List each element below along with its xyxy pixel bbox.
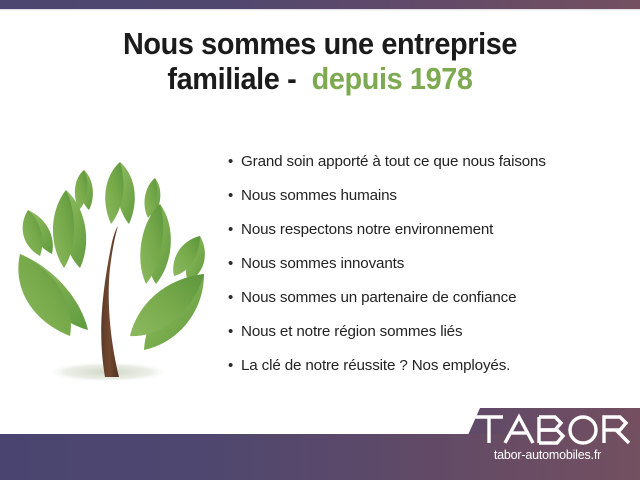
- bullet-icon: •: [228, 252, 241, 275]
- headline-line-1: Nous sommes une entreprise: [22, 26, 617, 61]
- band-main: [0, 434, 640, 480]
- bullet-icon: •: [228, 150, 241, 173]
- list-item-label: Nous respectons notre environnement: [241, 218, 628, 241]
- top-accent-bar: [0, 0, 640, 9]
- headline-line-2: familiale - depuis 1978: [22, 61, 617, 96]
- list-item-label: Nous sommes un partenaire de confiance: [241, 286, 628, 309]
- top-accent-bar-shadow: [0, 9, 640, 11]
- bullet-icon: •: [228, 320, 241, 343]
- list-item: • Grand soin apporté à tout ce que nous …: [228, 150, 628, 184]
- leaf-top-left-small: [75, 170, 93, 210]
- leaf-mid-right: [140, 204, 171, 284]
- leaf-far-left: [23, 210, 53, 256]
- tree-illustration: [8, 150, 223, 390]
- list-item-label: La clé de notre réussite ? Nos employés.: [241, 354, 628, 377]
- list-item: • Nous sommes innovants: [228, 252, 628, 286]
- bullet-icon: •: [228, 354, 241, 377]
- list-item-label: Nous et notre région sommes liés: [241, 320, 628, 343]
- value-proposition-list: • Grand soin apporté à tout ce que nous …: [228, 150, 628, 388]
- headline-accent-text: depuis 1978: [312, 61, 473, 96]
- list-item-label: Grand soin apporté à tout ce que nous fa…: [241, 150, 628, 173]
- leaf-top-center: [105, 162, 135, 224]
- list-item: • Nous respectons notre environnement: [228, 218, 628, 252]
- list-item-label: Nous sommes innovants: [241, 252, 628, 275]
- list-item-label: Nous sommes humains: [241, 184, 628, 207]
- list-item: • Nous et notre région sommes liés: [228, 320, 628, 354]
- leaf-lower-right: [130, 274, 204, 350]
- headline-main-text: familiale -: [167, 61, 296, 96]
- bullet-icon: •: [228, 184, 241, 207]
- list-item: • Nous sommes humains: [228, 184, 628, 218]
- list-item: • La clé de notre réussite ? Nos employé…: [228, 354, 628, 388]
- leaf-lower-left: [18, 254, 88, 336]
- list-item: • Nous sommes un partenaire de confiance: [228, 286, 628, 320]
- tree-trunk: [101, 226, 119, 377]
- bullet-icon: •: [228, 218, 241, 241]
- page-title: Nous sommes une entreprise familiale - d…: [22, 26, 617, 97]
- bullet-icon: •: [228, 286, 241, 309]
- slide-canvas: Nous sommes une entreprise familiale - d…: [0, 0, 640, 480]
- brand-footer-band: [0, 400, 640, 480]
